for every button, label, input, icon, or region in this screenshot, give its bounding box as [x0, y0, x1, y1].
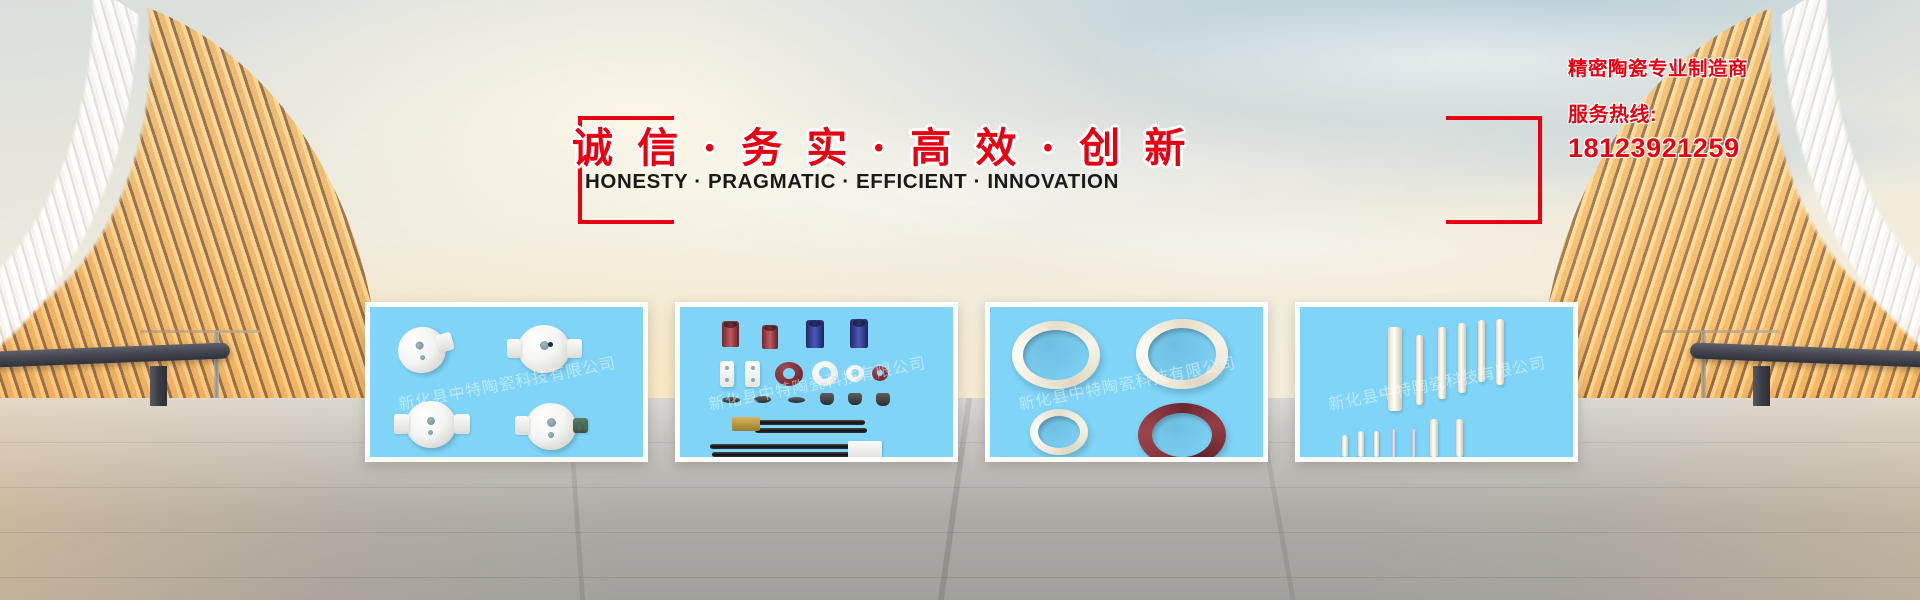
- ceramic-rod-short-1: [1342, 435, 1348, 457]
- clip-2: [754, 396, 771, 403]
- ceramic-rod-4: [1458, 323, 1466, 393]
- panel-3-canvas: 新化县中特陶瓷科技有限公司: [990, 307, 1263, 457]
- product-panel-row: 新化县中特陶瓷科技有限公司: [0, 0, 1920, 600]
- ceramic-sleeve-red-1: [722, 321, 739, 347]
- clip-5: [848, 393, 862, 405]
- ceramic-rod-short-2: [1358, 431, 1364, 457]
- ceramic-ring-maroon: [775, 362, 803, 386]
- lamp-holder-3: [406, 401, 456, 448]
- ceramic-rod-5: [1478, 320, 1485, 382]
- panel-4-watermark: 新化县中特陶瓷科技有限公司: [1326, 349, 1548, 415]
- ceramic-rod-6: [1496, 319, 1504, 385]
- ceramic-sleeve-red-2: [762, 325, 778, 349]
- ceramic-rod-thick: [1388, 327, 1402, 411]
- product-panel-rings[interactable]: 新化县中特陶瓷科技有限公司: [985, 302, 1268, 462]
- promo-banner: 诚 信 · 务 实 · 高 效 · 创 新 HONESTY · PRAGMATI…: [0, 0, 1920, 600]
- ceramic-plate-2: [745, 361, 760, 387]
- ceramic-rod-3: [1438, 327, 1446, 399]
- panel-2-canvas: 新化县中特陶瓷科技有限公司: [680, 307, 953, 457]
- clip-1: [722, 397, 740, 403]
- wire-assembly-2-connector: [848, 441, 882, 457]
- wire-assembly-1-lead-b: [755, 428, 867, 433]
- ceramic-ring-white-small: [846, 365, 864, 382]
- panel-4-canvas: 新化县中特陶瓷科技有限公司: [1300, 307, 1573, 457]
- product-panel-rods[interactable]: 新化县中特陶瓷科技有限公司: [1295, 302, 1578, 462]
- lamp-holder-1: [393, 321, 452, 378]
- ceramic-rod-thin-1: [1392, 429, 1395, 457]
- lamp-holder-2: [518, 325, 570, 373]
- lamp-holder-4: [526, 403, 576, 450]
- wire-assembly-2-lead-a: [710, 444, 852, 449]
- ceramic-ring-white-large: [812, 361, 838, 386]
- wire-assembly-2-lead-b: [712, 452, 852, 457]
- ceramic-ring-maroon-small: [872, 366, 888, 381]
- ceramic-ring-large-2: [1136, 319, 1228, 389]
- ceramic-rod-short-4: [1430, 419, 1438, 457]
- wire-assembly-1-terminal: [732, 417, 760, 431]
- ceramic-ring-maroon-large: [1138, 403, 1226, 457]
- ceramic-ring-large-1: [1012, 321, 1100, 389]
- ceramic-ring-small: [1030, 409, 1088, 455]
- ceramic-rod-short-3: [1374, 431, 1379, 457]
- ceramic-rod-short-5: [1456, 419, 1463, 457]
- clip-3: [788, 397, 805, 403]
- ceramic-sleeve-blue-1: [806, 320, 824, 348]
- clip-6: [876, 393, 890, 406]
- panel-1-canvas: 新化县中特陶瓷科技有限公司: [370, 307, 643, 457]
- wire-assembly-1-lead-a: [755, 420, 865, 425]
- ceramic-rod-thin-2: [1412, 429, 1415, 457]
- ceramic-sleeve-blue-2: [850, 319, 868, 348]
- ceramic-plate-1: [720, 361, 734, 387]
- clip-4: [820, 393, 834, 405]
- product-panel-lamp-holders[interactable]: 新化县中特陶瓷科技有限公司: [365, 302, 648, 462]
- ceramic-rod-2: [1416, 335, 1423, 405]
- product-panel-sleeves-wires[interactable]: 新化县中特陶瓷科技有限公司: [675, 302, 958, 462]
